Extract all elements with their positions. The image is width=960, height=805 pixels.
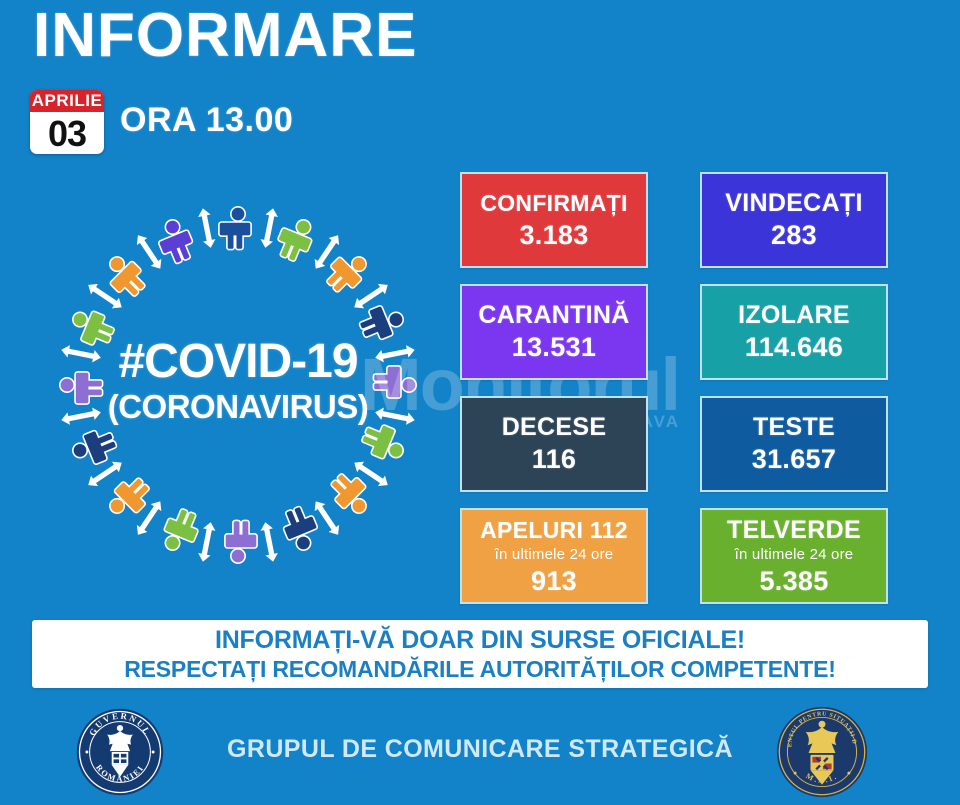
stat-card-label: TESTE: [753, 412, 835, 442]
distance-arrow-icon: [195, 520, 218, 564]
stat-card-label: CARANTINĂ: [478, 300, 629, 330]
stat-card-value: 913: [531, 564, 577, 598]
stat-card-label: CONFIRMAȚI: [480, 188, 627, 218]
distance-arrow-icon: [195, 206, 218, 250]
stat-card-value: 3.183: [519, 218, 588, 252]
stat-card-label: APELURI 112: [480, 515, 628, 545]
covid-circle-graphic: #COVID-19 (CORONAVIRUS): [38, 185, 438, 590]
person-icon: [158, 505, 204, 557]
stat-card-telverde: TELVERDEîn ultimele 24 ore5.385: [700, 508, 888, 604]
distance-arrow-icon: [59, 342, 103, 365]
person-icon: [373, 366, 416, 398]
person-icon: [272, 213, 318, 265]
stat-card-label: IZOLARE: [738, 300, 850, 330]
person-icon: [358, 419, 410, 465]
stat-card-value: 31.657: [752, 442, 836, 476]
stat-card-note: în ultimele 24 ore: [735, 545, 854, 564]
distance-arrow-icon: [258, 206, 281, 250]
dsu-seal-svg: DEPARTAMENTUL PENTRU SITUAȚII DE URGENȚĂ…: [774, 702, 870, 802]
stat-card-confirmati: CONFIRMAȚI3.183: [460, 172, 648, 268]
stat-card-label: TELVERDE: [727, 515, 861, 545]
stat-card-teste: TESTE31.657: [700, 396, 888, 492]
banner-line-2: RESPECTAȚI RECOMANDĂRILE AUTORITĂȚILOR C…: [124, 655, 836, 684]
stat-card-note: în ultimele 24 ore: [495, 545, 614, 564]
stat-card-value: 5.385: [759, 564, 828, 598]
date-badge-month: APRILIE: [30, 90, 104, 113]
covid-circle-svg: [38, 185, 438, 590]
person-icon: [60, 372, 103, 404]
person-icon: [66, 305, 118, 351]
stat-card-decese: DECESE116: [460, 396, 648, 492]
date-badge: APRILIE 03: [30, 90, 104, 154]
distance-arrow-icon: [373, 405, 417, 428]
hour-label: ORA 13.00: [120, 101, 293, 140]
person-icon: [219, 207, 251, 250]
banner-line-1: INFORMAȚI-VĂ DOAR DIN SURSE OFICIALE!: [215, 625, 745, 655]
stat-card-label: VINDECAȚI: [725, 188, 862, 218]
dsu-mai-emblem-icon: DEPARTAMENTUL PENTRU SITUAȚII DE URGENȚĂ…: [774, 702, 870, 802]
stat-card-value: 116: [532, 442, 576, 476]
stat-card-value: 13.531: [512, 330, 596, 364]
distance-arrow-icon: [258, 520, 281, 564]
stat-card-izolare: IZOLARE114.646: [700, 284, 888, 380]
distance-arrow-icon: [373, 342, 417, 365]
stat-card-carantina: CARANTINĂ13.531: [460, 284, 648, 380]
page-title: INFORMARE: [33, 2, 417, 70]
stat-card-vindecati: VINDECAȚI283: [700, 172, 888, 268]
stat-card-apeluri-112: APELURI 112în ultimele 24 ore913: [460, 508, 648, 604]
stat-card-value: 114.646: [745, 330, 843, 364]
informare-poster: INFORMARE APRILIE 03 ORA 13.00 #COVID-19…: [0, 0, 960, 805]
stat-card-value: 283: [771, 218, 817, 252]
person-icon: [225, 520, 257, 563]
stat-card-label: DECESE: [502, 412, 607, 442]
distance-arrow-icon: [59, 405, 103, 428]
official-sources-banner: INFORMAȚI-VĂ DOAR DIN SURSE OFICIALE! RE…: [32, 620, 928, 688]
date-badge-day: 03: [30, 113, 104, 154]
